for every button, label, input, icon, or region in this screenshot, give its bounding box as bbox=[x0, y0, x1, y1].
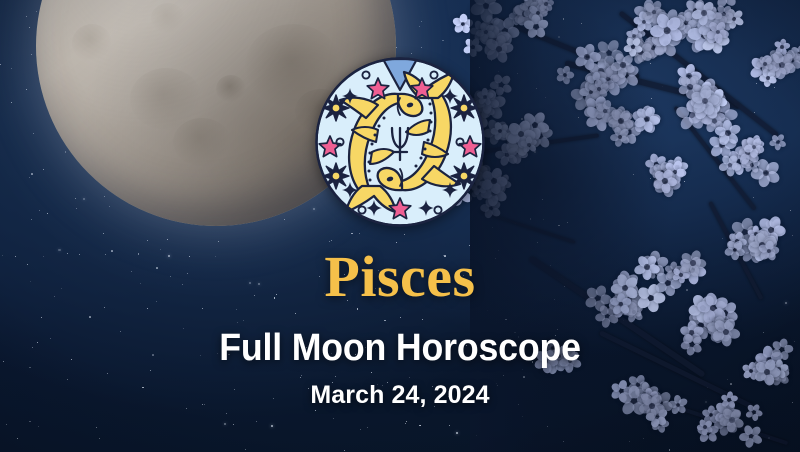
horoscope-poster: Pisces Full Moon Horoscope March 24, 202… bbox=[0, 0, 800, 452]
date-text: March 24, 2024 bbox=[0, 383, 800, 408]
zodiac-sign-title: Pisces bbox=[0, 248, 800, 306]
title-block: Pisces Full Moon Horoscope March 24, 202… bbox=[0, 248, 800, 408]
headline-text: Full Moon Horoscope bbox=[24, 329, 776, 367]
